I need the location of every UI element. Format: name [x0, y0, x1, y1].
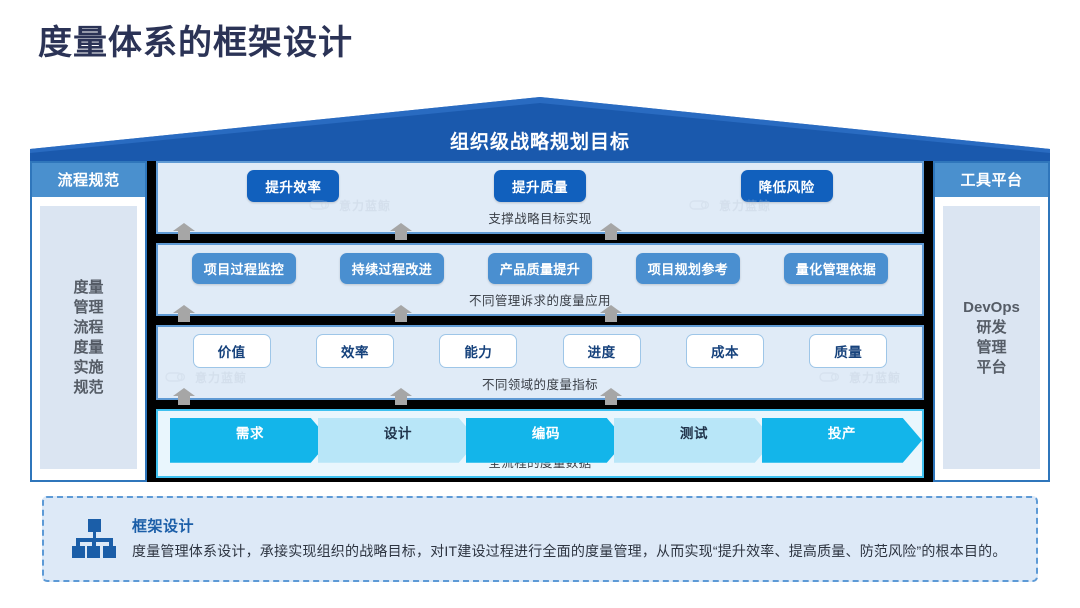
chip-project-process-monitoring[interactable]: 项目过程监控 — [192, 253, 296, 284]
watermark-logo-icon — [818, 370, 844, 385]
application-row-caption: 不同管理诉求的度量应用 — [469, 290, 611, 309]
stage-coding[interactable]: 编码 — [466, 418, 626, 446]
left-column-header: 流程规范 — [32, 163, 145, 197]
left-column-body-pad: 度量 管理 流程 度量 实施 规范 — [32, 197, 145, 480]
strategy-row-caption: 支撑战略目标实现 — [488, 208, 591, 227]
stage-label: 编码 — [532, 422, 560, 442]
watermark-text: 意力蓝鲸 — [849, 369, 901, 386]
roof-banner: 组织级战略规划目标 — [30, 97, 1050, 162]
chip-project-planning-reference[interactable]: 项目规划参考 — [636, 253, 740, 284]
stage-label: 设计 — [384, 422, 412, 442]
right-column-text: DevOps 研发 管理 平台 — [963, 298, 1020, 378]
watermark-logo-icon — [164, 370, 190, 385]
metric-domain-chip-row: 价值 效率 能力 进度 成本 质量 — [170, 334, 910, 368]
chip-improve-efficiency[interactable]: 提升效率 — [247, 170, 339, 202]
stage-testing[interactable]: 测试 — [614, 418, 774, 446]
stage-label: 测试 — [680, 422, 708, 442]
note-icon-wrap — [60, 517, 128, 561]
lifecycle-row: 需求 设计 编码 测试 — [156, 409, 924, 478]
note-body: 框架设计 度量管理体系设计，承接实现组织的战略目标，对IT建设过程进行全面的度量… — [128, 515, 1020, 563]
chip-efficiency[interactable]: 效率 — [316, 334, 394, 368]
chip-quantitative-management-basis[interactable]: 量化管理依据 — [784, 253, 888, 284]
center-stack: 意力蓝鲸 意力蓝鲸 提升效率 提升质量 降低风险 支撑战略目标实现 — [156, 161, 924, 482]
left-column-text: 度量 管理 流程 度量 实施 规范 — [73, 278, 103, 398]
left-column-body: 度量 管理 流程 度量 实施 规范 — [40, 206, 137, 469]
framework-note: 框架设计 度量管理体系设计，承接实现组织的战略目标，对IT建设过程进行全面的度量… — [42, 496, 1038, 582]
stage-label: 投产 — [828, 422, 856, 442]
chip-capability[interactable]: 能力 — [439, 334, 517, 368]
left-column-process-standard[interactable]: 流程规范 度量 管理 流程 度量 实施 规范 — [30, 161, 147, 482]
chip-continuous-process-improvement[interactable]: 持续过程改进 — [340, 253, 444, 284]
stage-design[interactable]: 设计 — [318, 418, 478, 446]
roof-label: 组织级战略规划目标 — [30, 127, 1050, 154]
chip-progress[interactable]: 进度 — [563, 334, 641, 368]
stage-production[interactable]: 投产 — [762, 418, 922, 446]
right-column-tool-platform[interactable]: 工具平台 DevOps 研发 管理 平台 — [933, 161, 1050, 482]
hierarchy-icon — [69, 517, 119, 561]
right-column-header: 工具平台 — [935, 163, 1048, 197]
right-column-body: DevOps 研发 管理 平台 — [943, 206, 1040, 469]
chip-reduce-risk[interactable]: 降低风险 — [741, 170, 833, 202]
chip-value[interactable]: 价值 — [193, 334, 271, 368]
chip-cost[interactable]: 成本 — [686, 334, 764, 368]
watermark-text: 意力蓝鲸 — [195, 369, 247, 386]
application-chip-row: 项目过程监控 持续过程改进 产品质量提升 项目规划参考 量化管理依据 — [170, 253, 910, 284]
strategy-chip-row: 提升效率 提升质量 降低风险 — [170, 170, 910, 202]
watermark: 意力蓝鲸 — [164, 369, 247, 386]
metric-domain-row: 意力蓝鲸 意力蓝鲸 价值 效率 能力 进度 成本 质量 不 — [156, 325, 924, 400]
chip-improve-quality[interactable]: 提升质量 — [494, 170, 586, 202]
stage-label: 需求 — [236, 422, 264, 442]
metric-domain-row-caption: 不同领域的度量指标 — [482, 374, 598, 393]
page-title: 度量体系的框架设计 — [38, 21, 353, 65]
chip-product-quality-improvement[interactable]: 产品质量提升 — [488, 253, 592, 284]
watermark: 意力蓝鲸 — [818, 369, 901, 386]
stage-requirements[interactable]: 需求 — [170, 418, 330, 446]
note-text: 度量管理体系设计，承接实现组织的战略目标，对IT建设过程进行全面的度量管理，从而… — [132, 540, 1010, 563]
slide-canvas: 度量体系的框架设计 组织级战略规划目标 流程规范 度量 管理 流程 度量 实施 … — [0, 0, 1080, 608]
house-body: 流程规范 度量 管理 流程 度量 实施 规范 意力蓝鲸 — [30, 161, 1050, 482]
strategy-row: 意力蓝鲸 意力蓝鲸 提升效率 提升质量 降低风险 支撑战略目标实现 — [156, 161, 924, 234]
chip-quality[interactable]: 质量 — [809, 334, 887, 368]
right-column-body-pad: DevOps 研发 管理 平台 — [935, 197, 1048, 480]
lifecycle-flow: 需求 设计 编码 测试 — [170, 418, 910, 446]
application-row: 项目过程监控 持续过程改进 产品质量提升 项目规划参考 量化管理依据 不同管理诉… — [156, 243, 924, 316]
note-title: 框架设计 — [132, 515, 1010, 536]
